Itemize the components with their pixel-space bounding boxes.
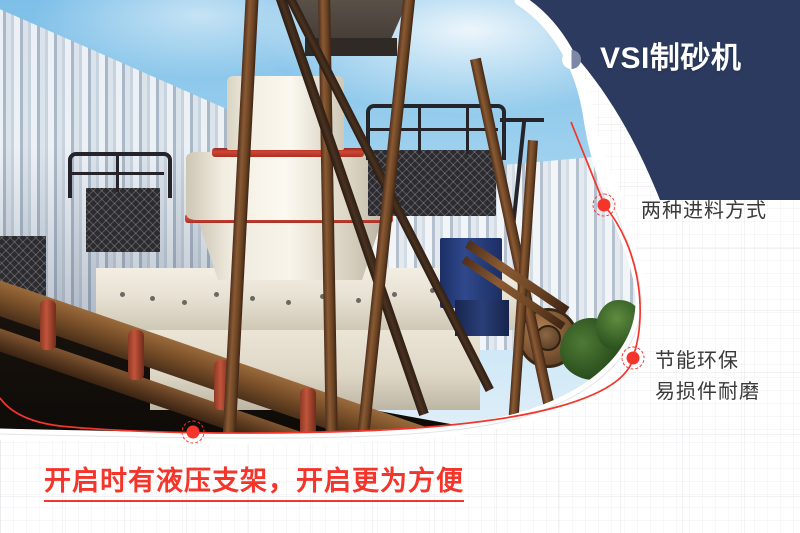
- feature-1-text: 两种进料方式: [641, 196, 767, 227]
- node-dot-icon: [627, 352, 640, 365]
- conveyor-roller: [300, 388, 316, 438]
- bullet-dot-icon: [562, 50, 581, 69]
- bolt: [356, 298, 361, 303]
- product-photo: [0, 0, 660, 450]
- bottom-caption: 开启时有液压支架，开启更为方便: [44, 468, 464, 502]
- bolt: [150, 296, 155, 301]
- promo-banner: VSI制砂机 两种进料方式 节能环保 易损件耐磨 开启时有液压支架，开启更为方便: [0, 0, 800, 533]
- feature-node-2[interactable]: [622, 347, 645, 370]
- node-dot-icon: [187, 426, 200, 439]
- bolt: [182, 300, 187, 305]
- bolt: [392, 292, 397, 297]
- railing-post: [466, 104, 469, 154]
- bolt: [214, 292, 219, 297]
- caption-node[interactable]: [182, 421, 205, 444]
- railing-post: [116, 152, 119, 192]
- bolt: [250, 296, 255, 301]
- node-dot-icon: [598, 199, 611, 212]
- machine-mid-drum: [186, 152, 392, 220]
- conveyor-roller: [40, 300, 56, 350]
- railing-bar: [366, 128, 498, 131]
- railing-post: [418, 104, 421, 154]
- shrub: [596, 300, 642, 352]
- header-title-row: VSI制砂机: [562, 44, 741, 74]
- feature-label-1: 两种进料方式: [641, 196, 767, 227]
- feature-2-line-1: 节能环保: [655, 346, 760, 377]
- stair-railing-top: [500, 118, 544, 122]
- feature-label-2: 节能环保 易损件耐磨: [655, 346, 760, 408]
- feature-node-1[interactable]: [593, 194, 616, 217]
- feature-2-line-2: 易损件耐磨: [655, 377, 760, 408]
- page-title: VSI制砂机: [600, 44, 741, 74]
- bolt: [286, 300, 291, 305]
- bolt: [120, 292, 125, 297]
- conveyor-roller: [128, 330, 144, 380]
- platform-railing-left: [68, 152, 172, 198]
